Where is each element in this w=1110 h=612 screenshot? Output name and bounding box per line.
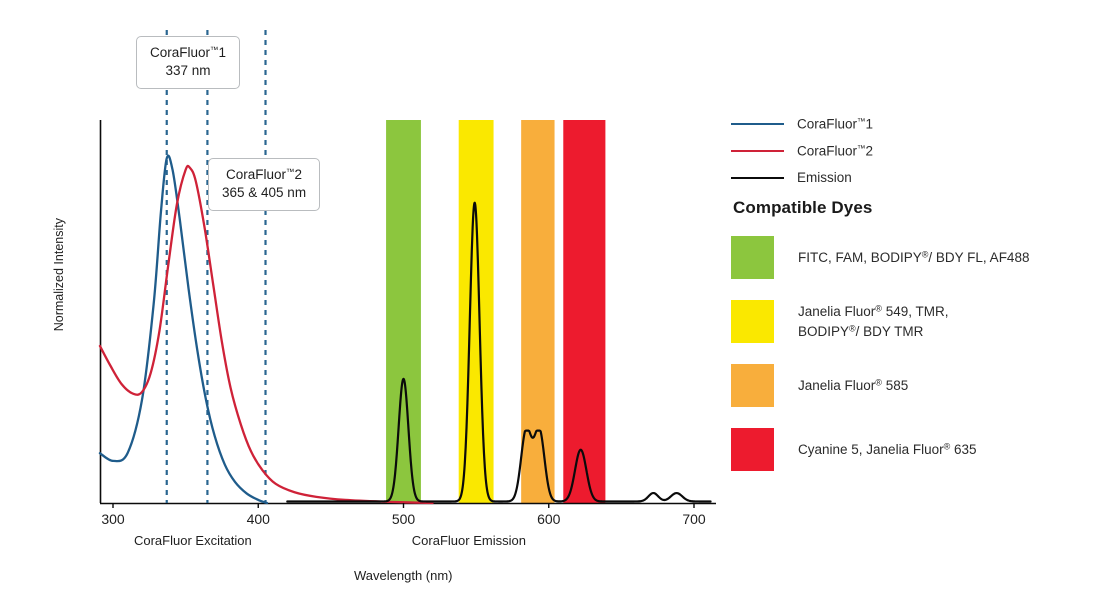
dye-row-2: Janelia Fluor® 549, TMR,BODIPY®/ BDY TMR: [731, 300, 1110, 343]
legend-row-3: Emission: [731, 164, 1110, 191]
excitation-marker-lines: [167, 30, 266, 503]
x-axis-title: Wavelength (nm): [354, 568, 453, 583]
x-tick-label-700: 700: [664, 511, 724, 527]
x-tick-label-400: 400: [228, 511, 288, 527]
dye-row-1: FITC, FAM, BODIPY®/ BDY FL, AF488: [731, 236, 1110, 279]
red-band: [563, 120, 605, 503]
compatible-dyes-panel: Compatible Dyes FITC, FAM, BODIPY®/ BDY …: [731, 198, 1110, 492]
orange-band: [521, 120, 554, 503]
curve-emission: [287, 203, 710, 502]
green-band: [386, 120, 421, 503]
legend-label: Emission: [797, 170, 852, 185]
dye-label: FITC, FAM, BODIPY®/ BDY FL, AF488: [798, 248, 1029, 267]
fluorescence-spectra-figure: 300 400 500 600 700 CoraFluor Excitation…: [0, 0, 1110, 612]
legend-row-1: CoraFluor™1: [731, 110, 1110, 137]
dye-label-line: FITC, FAM, BODIPY®/ BDY FL, AF488: [798, 248, 1029, 267]
dye-label: Janelia Fluor® 549, TMR,BODIPY®/ BDY TMR: [798, 302, 948, 340]
dye-label: Janelia Fluor® 585: [798, 376, 908, 395]
dye-color-swatch: [731, 236, 774, 279]
dye-label-line: BODIPY®/ BDY TMR: [798, 322, 948, 341]
y-axis-title: Normalized Intensity: [52, 218, 66, 331]
dye-label-line: Janelia Fluor® 549, TMR,: [798, 302, 948, 321]
callout-corafluor2-title: CoraFluor™2: [222, 166, 306, 184]
legend-line-swatch: [731, 150, 784, 152]
callout-corafluor2: CoraFluor™2 365 & 405 nm: [208, 158, 320, 211]
callout-corafluor1-value: 337 nm: [150, 62, 226, 80]
legend-label: CoraFluor™1: [797, 116, 873, 132]
x-tick-label-300: 300: [83, 511, 143, 527]
chart-legend: CoraFluor™1CoraFluor™2Emission: [731, 110, 1110, 191]
chart-plot-area: 300 400 500 600 700 CoraFluor Excitation…: [0, 0, 730, 612]
x-tick-label-600: 600: [519, 511, 579, 527]
dye-color-swatch: [731, 364, 774, 407]
dye-label-line: Cyanine 5, Janelia Fluor® 635: [798, 440, 977, 459]
compatible-dyes-title: Compatible Dyes: [733, 198, 1110, 218]
emission-bands-group: [386, 120, 605, 503]
callout-corafluor1: CoraFluor™1 337 nm: [136, 36, 240, 89]
yellow-band: [459, 120, 494, 503]
dye-row-4: Cyanine 5, Janelia Fluor® 635: [731, 428, 1110, 471]
dye-color-swatch: [731, 428, 774, 471]
dye-color-swatch: [731, 300, 774, 343]
legend-label: CoraFluor™2: [797, 143, 873, 159]
dye-label: Cyanine 5, Janelia Fluor® 635: [798, 440, 977, 459]
callout-corafluor1-title: CoraFluor™1: [150, 44, 226, 62]
legend-row-2: CoraFluor™2: [731, 137, 1110, 164]
region-label-excitation: CoraFluor Excitation: [134, 533, 252, 548]
compatible-dyes-list: FITC, FAM, BODIPY®/ BDY FL, AF488Janelia…: [731, 236, 1110, 471]
x-tick-label-500: 500: [374, 511, 434, 527]
legend-line-swatch: [731, 177, 784, 179]
dye-row-3: Janelia Fluor® 585: [731, 364, 1110, 407]
dye-label-line: Janelia Fluor® 585: [798, 376, 908, 395]
legend-line-swatch: [731, 123, 784, 125]
region-label-emission: CoraFluor Emission: [412, 533, 526, 548]
callout-corafluor2-value: 365 & 405 nm: [222, 184, 306, 202]
